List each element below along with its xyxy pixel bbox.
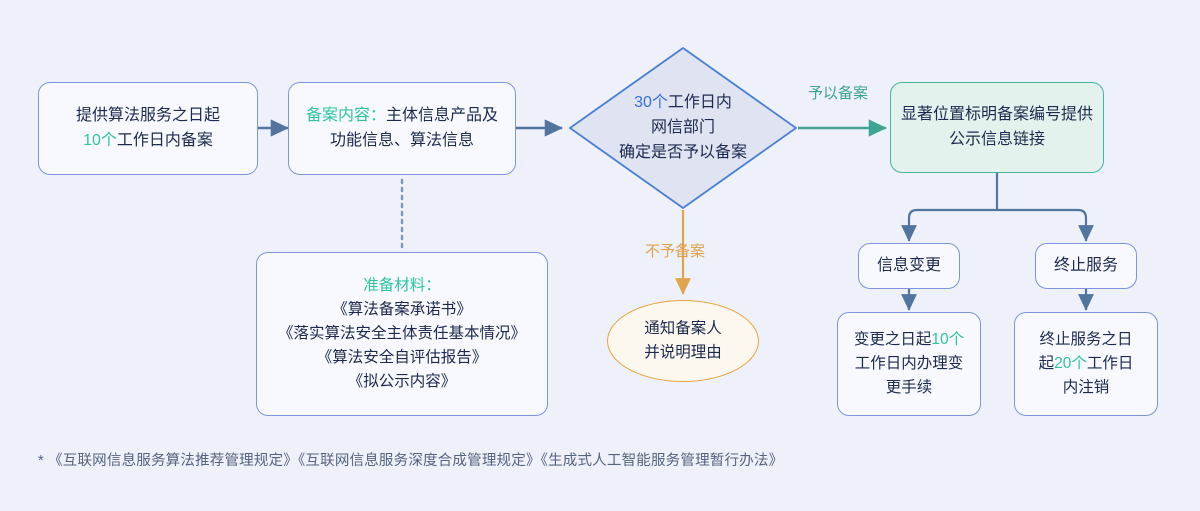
node-materials[interactable]: 准备材料： 《算法备案承诺书》 《落实算法安全主体责任基本情况》 《算法安全自评… xyxy=(256,252,548,416)
node-start-line2-rest: 工作日内备案 xyxy=(117,132,213,149)
node-change-detail-line1-pre: 变更之日起 xyxy=(854,331,932,348)
node-change-detail-days: 10个 xyxy=(931,331,964,348)
node-terminate-detail-line2-pre: 起 xyxy=(1039,355,1055,372)
node-notify-line2: 并说明理由 xyxy=(644,341,722,365)
node-decision-line2: 网信部门 xyxy=(651,116,715,141)
node-terminate-detail-line2-rest: 工作日 xyxy=(1087,355,1134,372)
footnote: * 《互联网信息服务算法推荐管理规定》《互联网信息服务深度合成管理规定》《生成式… xyxy=(38,449,783,470)
node-change-detail-line1: 变更之日起10个 xyxy=(854,328,964,352)
node-publish[interactable]: 显著位置标明备案编号提供 公示信息链接 xyxy=(890,82,1104,173)
node-terminate-detail-line3: 内注销 xyxy=(1063,376,1110,400)
flowchart-canvas: 提供算法服务之日起 10个工作日内备案 备案内容：主体信息产品及 功能信息、算法… xyxy=(0,0,1200,511)
arrow-publish-to-info-change xyxy=(909,210,997,241)
node-terminate-detail-line2: 起20个工作日 xyxy=(1039,352,1134,376)
node-change-detail-line2: 工作日内办理变 xyxy=(855,352,964,376)
arrow-publish-to-terminate xyxy=(997,210,1086,241)
node-change-detail-line3: 更手续 xyxy=(886,376,933,400)
node-materials-item-1: 《落实算法安全主体责任基本情况》 xyxy=(278,322,526,346)
node-info-change-label: 信息变更 xyxy=(877,254,941,279)
node-start-line1: 提供算法服务之日起 xyxy=(76,104,220,129)
node-decision-line1-rest: 工作日内 xyxy=(668,94,732,111)
node-decision[interactable]: 30个工作日内 网信部门 确定是否予以备案 xyxy=(578,82,788,175)
node-filing-content-line1: 备案内容：主体信息产品及 xyxy=(306,104,498,129)
node-terminate-label: 终止服务 xyxy=(1054,254,1118,279)
node-publish-line2: 公示信息链接 xyxy=(949,128,1045,153)
node-filing-content-label: 备案内容： xyxy=(306,107,386,124)
node-filing-content-line2: 功能信息、算法信息 xyxy=(330,129,474,154)
node-info-change[interactable]: 信息变更 xyxy=(858,243,960,289)
node-decision-days: 30个 xyxy=(634,94,668,111)
node-terminate-detail-line1: 终止服务之日 xyxy=(1039,328,1132,352)
node-terminate-detail-days: 20个 xyxy=(1054,355,1087,372)
node-materials-title: 准备材料： xyxy=(363,274,441,298)
node-materials-item-0: 《算法备案承诺书》 xyxy=(332,298,472,322)
edge-label-approved: 予以备案 xyxy=(808,82,868,103)
node-change-detail[interactable]: 变更之日起10个 工作日内办理变 更手续 xyxy=(837,312,981,416)
node-materials-title-text: 准备材料： xyxy=(363,277,441,294)
connectors-layer xyxy=(0,0,1200,511)
node-notify[interactable]: 通知备案人 并说明理由 xyxy=(607,300,759,382)
node-start-line2: 10个工作日内备案 xyxy=(83,129,213,154)
node-materials-item-2: 《算法安全自评估报告》 xyxy=(317,346,488,370)
node-notify-line1: 通知备案人 xyxy=(644,317,722,341)
node-decision-line1: 30个工作日内 xyxy=(634,91,732,116)
node-terminate[interactable]: 终止服务 xyxy=(1035,243,1137,289)
node-publish-line1: 显著位置标明备案编号提供 xyxy=(901,103,1093,128)
node-start-days: 10个 xyxy=(83,132,117,149)
node-materials-item-3: 《拟公示内容》 xyxy=(348,370,457,394)
node-filing-content-line1-rest: 主体信息产品及 xyxy=(386,107,498,124)
node-terminate-detail[interactable]: 终止服务之日 起20个工作日 内注销 xyxy=(1014,312,1158,416)
node-filing-content[interactable]: 备案内容：主体信息产品及 功能信息、算法信息 xyxy=(288,82,516,175)
edge-label-rejected: 不予备案 xyxy=(645,240,705,261)
node-decision-line3: 确定是否予以备案 xyxy=(619,141,747,166)
node-start[interactable]: 提供算法服务之日起 10个工作日内备案 xyxy=(38,82,258,175)
